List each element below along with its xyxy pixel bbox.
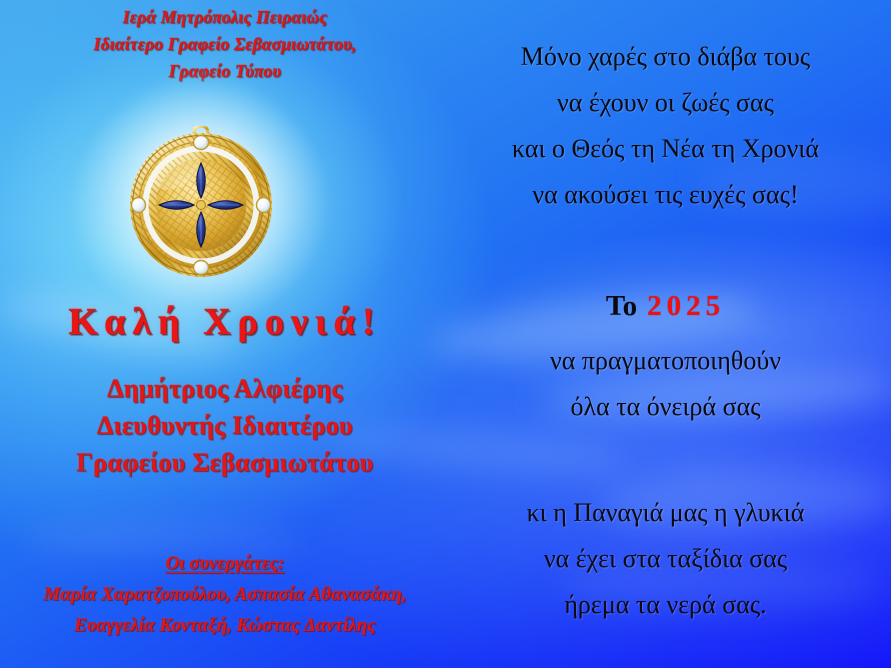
stanza-1-line-4: να ακούσει τις ευχές σας! bbox=[440, 172, 891, 218]
stanza-1-line-1: Μόνο χαρές στο διάβα τους bbox=[440, 34, 891, 80]
stanza-3-line-3: ήρεμα τα νερά σας. bbox=[440, 582, 891, 628]
organization-line-2: Ιδιαίτερο Γραφείο Σεβασμιωτάτου, bbox=[0, 31, 450, 58]
stanza-3-line-1: κι η Παναγιά μας η γλυκιά bbox=[440, 490, 891, 536]
year-value: 2025 bbox=[647, 290, 725, 322]
signature-title-line-1: Διευθυντής Ιδιαιτέρου bbox=[0, 407, 450, 444]
left-column: Ιερά Μητρόπολις Πειραιώς Ιδιαίτερο Γραφε… bbox=[0, 0, 450, 668]
wish-stanza-3: κι η Παναγιά μας η γλυκιά να έχει στα τα… bbox=[440, 490, 891, 628]
signature-block: Δημήτριος Αλφιέρης Διευθυντής Ιδιαιτέρου… bbox=[0, 370, 450, 481]
collaborators-block: Οι συνεργάτες: Μαρία Χαρατζοπούλου, Ασπα… bbox=[0, 548, 450, 641]
year-label: Το bbox=[606, 290, 637, 322]
wish-stanza-2: να πραγματοποιηθούν όλα τα όνειρά σας bbox=[440, 338, 891, 430]
collaborators-title: Οι συνεργάτες: bbox=[0, 548, 450, 579]
collaborators-line-1: Μαρία Χαρατζοπούλου, Ασπασία Αθανασάκη, bbox=[0, 579, 450, 610]
signature-title-line-2: Γραφείου Σεβασμιωτάτου bbox=[0, 444, 450, 481]
stanza-1-line-3: και ο Θεός τη Νέα τη Χρονιά bbox=[440, 126, 891, 172]
wish-stanza-1: Μόνο χαρές στο διάβα τους να έχουν οι ζω… bbox=[440, 34, 891, 218]
gold-cross-medallion-icon bbox=[128, 126, 274, 278]
greeting-card: Ιερά Μητρόπολις Πειραιώς Ιδιαίτερο Γραφε… bbox=[0, 0, 891, 668]
stanza-1-line-2: να έχουν οι ζωές σας bbox=[440, 80, 891, 126]
collaborators-line-2: Ευαγγελία Κονταξή, Κώστας Δαντίλης bbox=[0, 610, 450, 641]
emblem-container bbox=[128, 126, 274, 278]
stanza-2-line-1: να πραγματοποιηθούν bbox=[440, 338, 891, 384]
year-line: Το2025 bbox=[440, 290, 891, 323]
greeting-headline: Καλή Χρονιά! bbox=[0, 300, 450, 344]
stanza-3-line-2: να έχει στα ταξίδια σας bbox=[440, 536, 891, 582]
signature-name: Δημήτριος Αλφιέρης bbox=[0, 370, 450, 407]
organization-line-1: Ιερά Μητρόπολις Πειραιώς bbox=[0, 4, 450, 31]
organization-block: Ιερά Μητρόπολις Πειραιώς Ιδιαίτερο Γραφε… bbox=[0, 4, 450, 85]
stanza-2-line-2: όλα τα όνειρά σας bbox=[440, 384, 891, 430]
right-column: Μόνο χαρές στο διάβα τους να έχουν οι ζω… bbox=[440, 0, 891, 668]
